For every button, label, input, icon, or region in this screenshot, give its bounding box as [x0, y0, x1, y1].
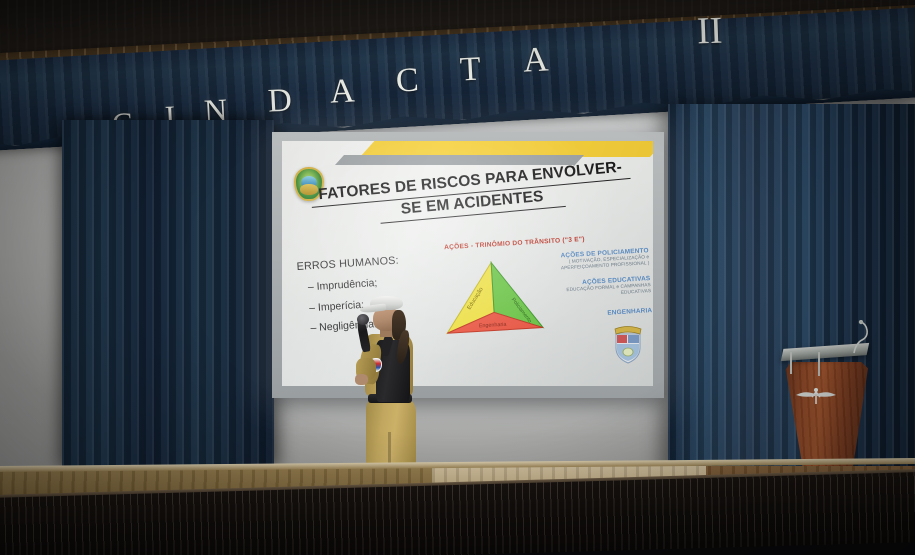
marquee-letter: C: [395, 63, 419, 98]
microphone-head: [357, 314, 369, 325]
projection-screen: FATORES DE RISCOS PARA ENVOLVER- SE EM A…: [272, 132, 664, 398]
curtain-pleats: [62, 120, 274, 468]
marquee-letter: II: [696, 12, 723, 51]
trinomio-entries: AÇÕES DE POLICIAMENTO ( MOTIVAÇÃO, ESPEC…: [545, 247, 653, 320]
podium-microphone-icon: [848, 320, 872, 354]
auditorium-scene: C I N D A C T A II FATORES DE RISCOS PAR…: [0, 0, 915, 555]
winged-insignia-icon: [794, 386, 838, 406]
stage-curtain-left: [62, 120, 274, 468]
presentation-slide: FATORES DE RISCOS PARA ENVOLVER- SE EM A…: [282, 141, 653, 386]
marquee-letter: A: [522, 41, 549, 77]
curtain-sheen: [668, 104, 915, 476]
trinomio-entry-heading: ENGENHARIA: [548, 307, 652, 320]
institutional-shield-icon: [613, 324, 643, 364]
presenter-hand: [355, 374, 368, 385]
marquee-letter: T: [459, 52, 482, 87]
marquee-letter: D: [267, 84, 293, 118]
podium-top-leg: [790, 352, 792, 374]
trinomio-pyramid-diagram: Educação Policiamento Engenharia: [437, 257, 549, 337]
marquee-letter: A: [329, 74, 355, 109]
podium-top-leg: [818, 352, 820, 376]
stage-curtain-right: [668, 104, 915, 476]
